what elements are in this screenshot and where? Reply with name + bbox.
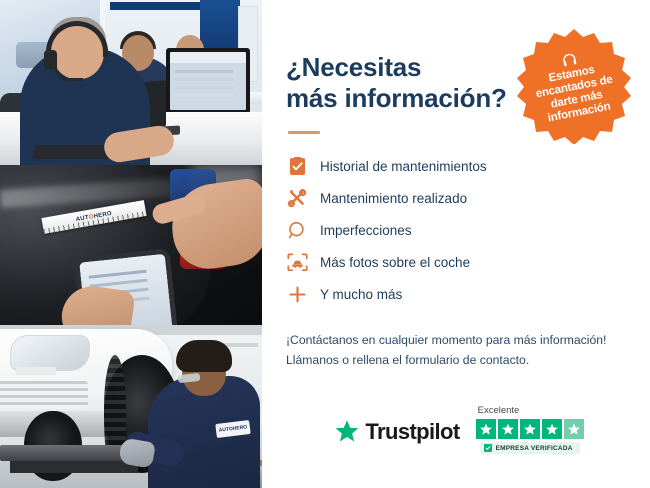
tools-wrench-screwdriver-icon (286, 187, 308, 209)
rating-star (564, 419, 584, 439)
trustpilot-rating[interactable]: Excelente EMPRESA VERIFICADA (476, 405, 584, 454)
license-plate (16, 367, 56, 375)
desktop-monitor (166, 48, 250, 114)
page-title-line-2: más información? (286, 83, 507, 113)
contact-line-2: Llámanos o rellena el formulario de cont… (286, 350, 626, 370)
plus-icon (286, 283, 308, 305)
trustpilot-widget[interactable]: Trustpilot Excelente EMPRESA VERIFICADA (286, 405, 632, 454)
verified-label: EMPRESA VERIFICADA (496, 445, 573, 452)
keyboard (32, 145, 113, 159)
headlight (10, 335, 90, 371)
mechanic-tire-photo: AUTOHERO (0, 325, 262, 488)
verified-business-badge: EMPRESA VERIFICADA (480, 442, 580, 454)
check-icon (484, 444, 492, 452)
rating-star (542, 419, 562, 439)
feature-item-mas-fotos: Más fotos sobre el coche (286, 246, 626, 278)
feature-item-mantenimiento: Mantenimiento realizado (286, 182, 626, 214)
feature-item-mucho-mas: Y mucho más (286, 278, 626, 310)
feature-item-imperfecciones: Imperfecciones (286, 214, 626, 246)
promo-card: AUTOHERO AUTOHERO (0, 0, 650, 488)
badge-text: Estamos encantados de darte más informac… (525, 59, 625, 128)
page-title-line-1: ¿Necesitas (286, 52, 421, 82)
clipboard-check-icon (286, 155, 308, 177)
monitor-screen (170, 52, 246, 110)
front-grille (0, 381, 88, 409)
trustpilot-star-icon (334, 419, 360, 444)
feature-label: Historial de mantenimientos (320, 160, 487, 174)
trustpilot-wordmark: Trustpilot (365, 421, 459, 443)
car-photo-frame-icon (286, 251, 308, 273)
feature-label: Más fotos sobre el coche (320, 256, 470, 270)
car-inspection-ruler-photo: AUTOHERO (0, 165, 262, 325)
rating-star (476, 419, 496, 439)
feature-item-historial: Historial de mantenimientos (286, 150, 626, 182)
trustpilot-logo[interactable]: Trustpilot (334, 419, 459, 454)
feature-label: Mantenimiento realizado (320, 192, 467, 206)
feature-label: Imperfecciones (320, 224, 412, 238)
wall-banner (110, 2, 202, 10)
contact-line-1: ¡Contáctanos en cualquier momento para m… (286, 330, 626, 350)
rating-star (498, 419, 518, 439)
mechanic-hair (176, 340, 232, 372)
trustpilot-rating-label: Excelente (478, 405, 520, 416)
call-center-agents-photo (0, 0, 262, 165)
badge-content: Estamos encantados de darte más informac… (506, 18, 642, 154)
feature-label: Y mucho más (320, 288, 402, 302)
page-title: ¿Necesitas más información? (286, 52, 516, 113)
trustpilot-stars (476, 419, 584, 439)
rating-star (520, 419, 540, 439)
car-lift-base (10, 461, 138, 473)
magnifier-icon (286, 219, 308, 241)
content-panel: ¿Necesitas más información? Estamos enca… (262, 0, 650, 488)
photo-collage: AUTOHERO AUTOHERO (0, 0, 262, 488)
promo-badge: Estamos encantados de darte más informac… (516, 28, 632, 144)
title-divider (288, 131, 320, 134)
feature-list: Historial de mantenimientos Mantenimient… (286, 150, 626, 310)
contact-text: ¡Contáctanos en cualquier momento para m… (286, 330, 626, 370)
